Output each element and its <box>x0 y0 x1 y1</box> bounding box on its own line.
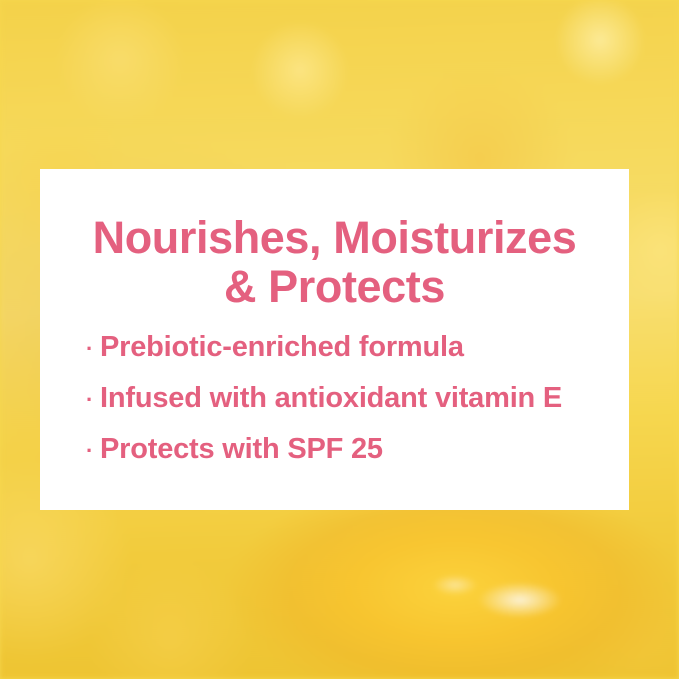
marketing-image: Nourishes, Moisturizes & Protects · Preb… <box>0 0 679 679</box>
bullet-dot-icon: · <box>86 389 100 411</box>
white-text-card: Nourishes, Moisturizes & Protects · Preb… <box>40 169 629 510</box>
list-item-label: Protects with SPF 25 <box>100 435 383 464</box>
list-item-label: Prebiotic-enriched formula <box>100 333 464 362</box>
list-item: · Protects with SPF 25 <box>86 435 587 464</box>
bullet-dot-icon: · <box>86 338 100 360</box>
list-item: · Prebiotic-enriched formula <box>86 333 587 362</box>
list-item-label: Infused with antioxidant vitamin E <box>100 384 562 413</box>
benefits-list: · Prebiotic-enriched formula · Infused w… <box>82 333 587 464</box>
page-title: Nourishes, Moisturizes & Protects <box>82 213 587 311</box>
list-item: · Infused with antioxidant vitamin E <box>86 384 587 413</box>
bullet-dot-icon: · <box>86 440 100 462</box>
